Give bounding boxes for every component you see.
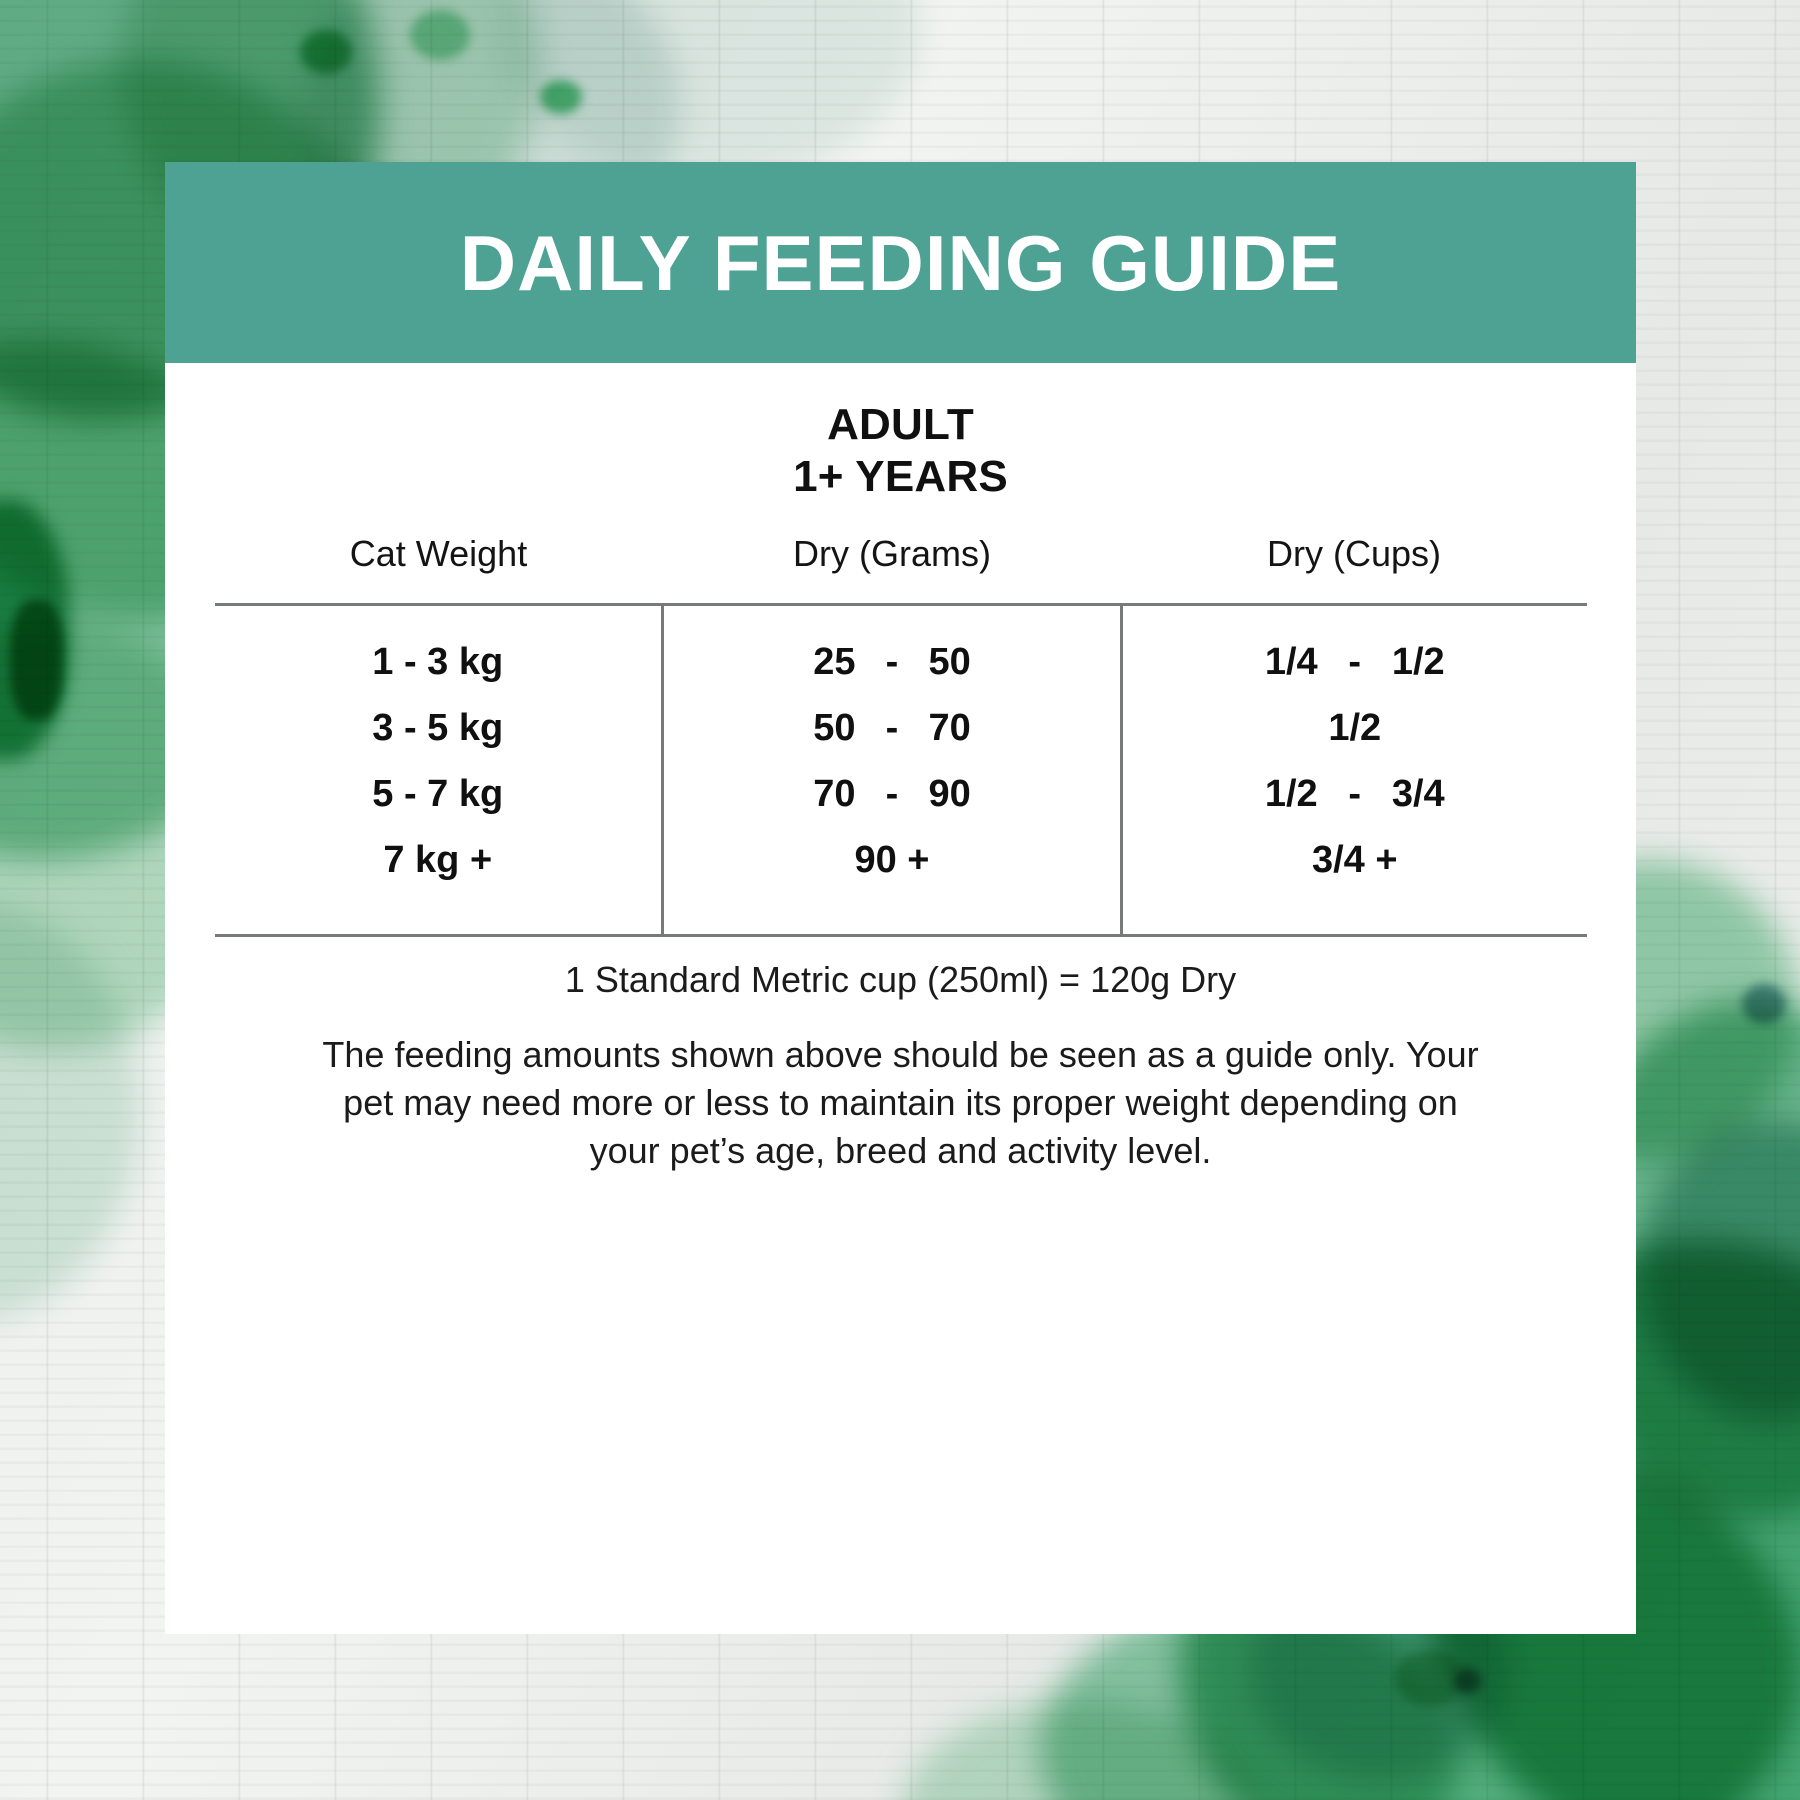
- page-title: DAILY FEEDING GUIDE: [460, 224, 1342, 302]
- cell-dry-cups: 3/4 +: [1122, 828, 1587, 936]
- watercolor-blob: [10, 600, 64, 720]
- watercolor-blob: [1742, 984, 1786, 1024]
- cell-cat-weight: 5 - 7 kg: [215, 762, 663, 828]
- life-stage-block: ADULT 1+ YEARS: [165, 399, 1636, 503]
- range-grams: 50 - 70: [664, 707, 1120, 750]
- table-row: 3 - 5 kg 50 - 70 1/2: [215, 696, 1587, 762]
- card-header: DAILY FEEDING GUIDE: [165, 162, 1636, 363]
- cell-dry-grams: 90 +: [663, 828, 1122, 936]
- cups-max: 1/2: [1392, 641, 1550, 684]
- cell-dry-grams: 50 - 70: [663, 696, 1122, 762]
- grams-dash: -: [856, 707, 929, 750]
- watercolor-blob: [300, 30, 352, 74]
- cups-dash: -: [1318, 773, 1392, 816]
- cell-cat-weight: 7 kg +: [215, 828, 663, 936]
- cups-dash: -: [1318, 641, 1392, 684]
- table-row: 5 - 7 kg 70 - 90 1/2 - 3/4: [215, 762, 1587, 828]
- cups-min: 1/2: [1160, 773, 1318, 816]
- grams-min: 70: [700, 773, 855, 816]
- grams-min: 25: [700, 641, 855, 684]
- column-header-cat-weight: Cat Weight: [215, 533, 663, 605]
- cell-cat-weight: 1 - 3 kg: [215, 604, 663, 696]
- range-grams: 70 - 90: [664, 773, 1120, 816]
- cell-cat-weight: 3 - 5 kg: [215, 696, 663, 762]
- grams-dash: -: [856, 641, 929, 684]
- grams-max: 90: [928, 773, 1083, 816]
- watercolor-blob: [410, 10, 470, 60]
- cell-dry-grams: 25 - 50: [663, 604, 1122, 696]
- column-header-dry-grams: Dry (Grams): [663, 533, 1122, 605]
- life-stage-line-1: ADULT: [165, 399, 1636, 451]
- card-body: ADULT 1+ YEARS Cat Weight Dry (Grams) Dr…: [165, 399, 1636, 1176]
- conversion-note: 1 Standard Metric cup (250ml) = 120g Dry: [165, 959, 1636, 1001]
- range-cups: 1/2 - 3/4: [1123, 773, 1587, 816]
- cups-min: 1/4: [1160, 641, 1318, 684]
- column-header-dry-cups: Dry (Cups): [1122, 533, 1587, 605]
- cups-max: 3/4: [1392, 773, 1550, 816]
- disclaimer-text: The feeding amounts shown above should b…: [311, 1031, 1491, 1176]
- grams-min: 50: [700, 707, 855, 750]
- cups-single: 3/4 +: [1123, 839, 1587, 882]
- cell-dry-cups: 1/2: [1122, 696, 1587, 762]
- table-header-row: Cat Weight Dry (Grams) Dry (Cups): [215, 533, 1587, 605]
- grams-max: 50: [928, 641, 1083, 684]
- range-cups: 1/4 - 1/2: [1123, 641, 1587, 684]
- grams-dash: -: [856, 773, 929, 816]
- table-row: 7 kg + 90 + 3/4 +: [215, 828, 1587, 936]
- feeding-guide-card: DAILY FEEDING GUIDE ADULT 1+ YEARS Cat W…: [165, 162, 1636, 1634]
- watercolor-blob: [540, 80, 582, 114]
- feeding-table: Cat Weight Dry (Grams) Dry (Cups) 1 - 3 …: [215, 533, 1587, 937]
- grams-single: 90 +: [664, 839, 1120, 882]
- cups-single: 1/2: [1123, 707, 1587, 750]
- cell-dry-grams: 70 - 90: [663, 762, 1122, 828]
- life-stage-line-2: 1+ YEARS: [165, 451, 1636, 503]
- cell-dry-cups: 1/2 - 3/4: [1122, 762, 1587, 828]
- range-grams: 25 - 50: [664, 641, 1120, 684]
- grams-max: 70: [928, 707, 1083, 750]
- table-row: 1 - 3 kg 25 - 50 1/4 - 1/2: [215, 604, 1587, 696]
- cell-dry-cups: 1/4 - 1/2: [1122, 604, 1587, 696]
